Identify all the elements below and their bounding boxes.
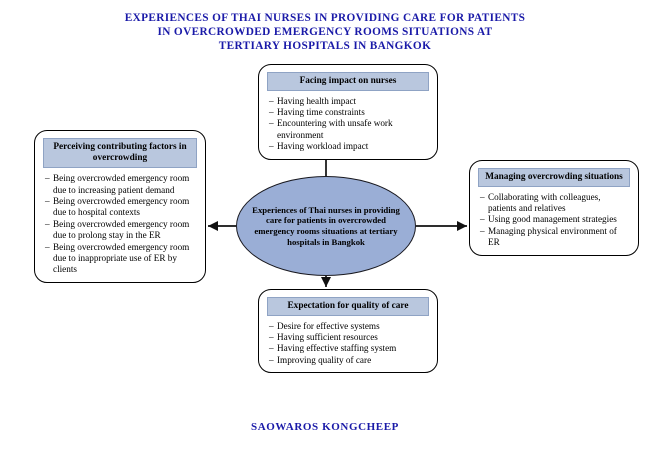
list-item: Being overcrowded emergency room due to … [45,219,197,242]
category-items-expectation-quality-of-care: Desire for effective systems Having suff… [265,321,431,367]
category-box-perceiving-contributing-factors[interactable]: Perceiving contributing factors in overc… [34,130,206,283]
central-concept-ellipse[interactable]: Experiences of Thai nurses in providing … [236,176,416,276]
category-header-facing-impact: Facing impact on nurses [267,72,429,91]
title-line-1: EXPERIENCES OF THAI NURSES IN PROVIDING … [0,11,650,25]
title-line-3: TERTIARY HOSPITALS IN BANGKOK [0,39,650,53]
list-item: Being overcrowded emergency room due to … [45,242,197,276]
category-items-managing-overcrowding: Collaborating with colleagues, patients … [476,192,632,249]
category-header-perceiving-contributing-factors: Perceiving contributing factors in overc… [43,138,197,168]
list-item: Improving quality of care [269,355,429,366]
category-box-managing-overcrowding[interactable]: Managing overcrowding situations Collabo… [469,160,639,256]
list-item: Having time constraints [269,107,429,118]
list-item: Being overcrowded emergency room due to … [45,173,197,196]
author-name: SAOWAROS KONGCHEEP [0,421,650,433]
list-item: Encountering with unsafe work environmen… [269,118,429,141]
category-items-perceiving-contributing-factors: Being overcrowded emergency room due to … [41,173,199,276]
list-item: Being overcrowded emergency room due to … [45,196,197,219]
category-box-facing-impact[interactable]: Facing impact on nurses Having health im… [258,64,438,160]
list-item: Desire for effective systems [269,321,429,332]
category-header-managing-overcrowding: Managing overcrowding situations [478,168,630,187]
list-item: Managing physical environment of ER [480,226,630,249]
central-concept-label: Experiences of Thai nurses in providing … [237,205,415,248]
list-item: Having health impact [269,96,429,107]
page-title: EXPERIENCES OF THAI NURSES IN PROVIDING … [0,11,650,54]
list-item: Collaborating with colleagues, patients … [480,192,630,215]
list-item: Having sufficient resources [269,332,429,343]
list-item: Having workload impact [269,141,429,152]
diagram-canvas: EXPERIENCES OF THAI NURSES IN PROVIDING … [0,0,650,450]
category-header-expectation-quality-of-care: Expectation for quality of care [267,297,429,316]
list-item: Having effective staffing system [269,343,429,354]
category-box-expectation-quality-of-care[interactable]: Expectation for quality of care Desire f… [258,289,438,373]
list-item: Using good management strategies [480,214,630,225]
title-line-2: IN OVERCROWDED EMERGENCY ROOMS SITUATION… [0,25,650,39]
category-items-facing-impact: Having health impact Having time constra… [265,96,431,153]
